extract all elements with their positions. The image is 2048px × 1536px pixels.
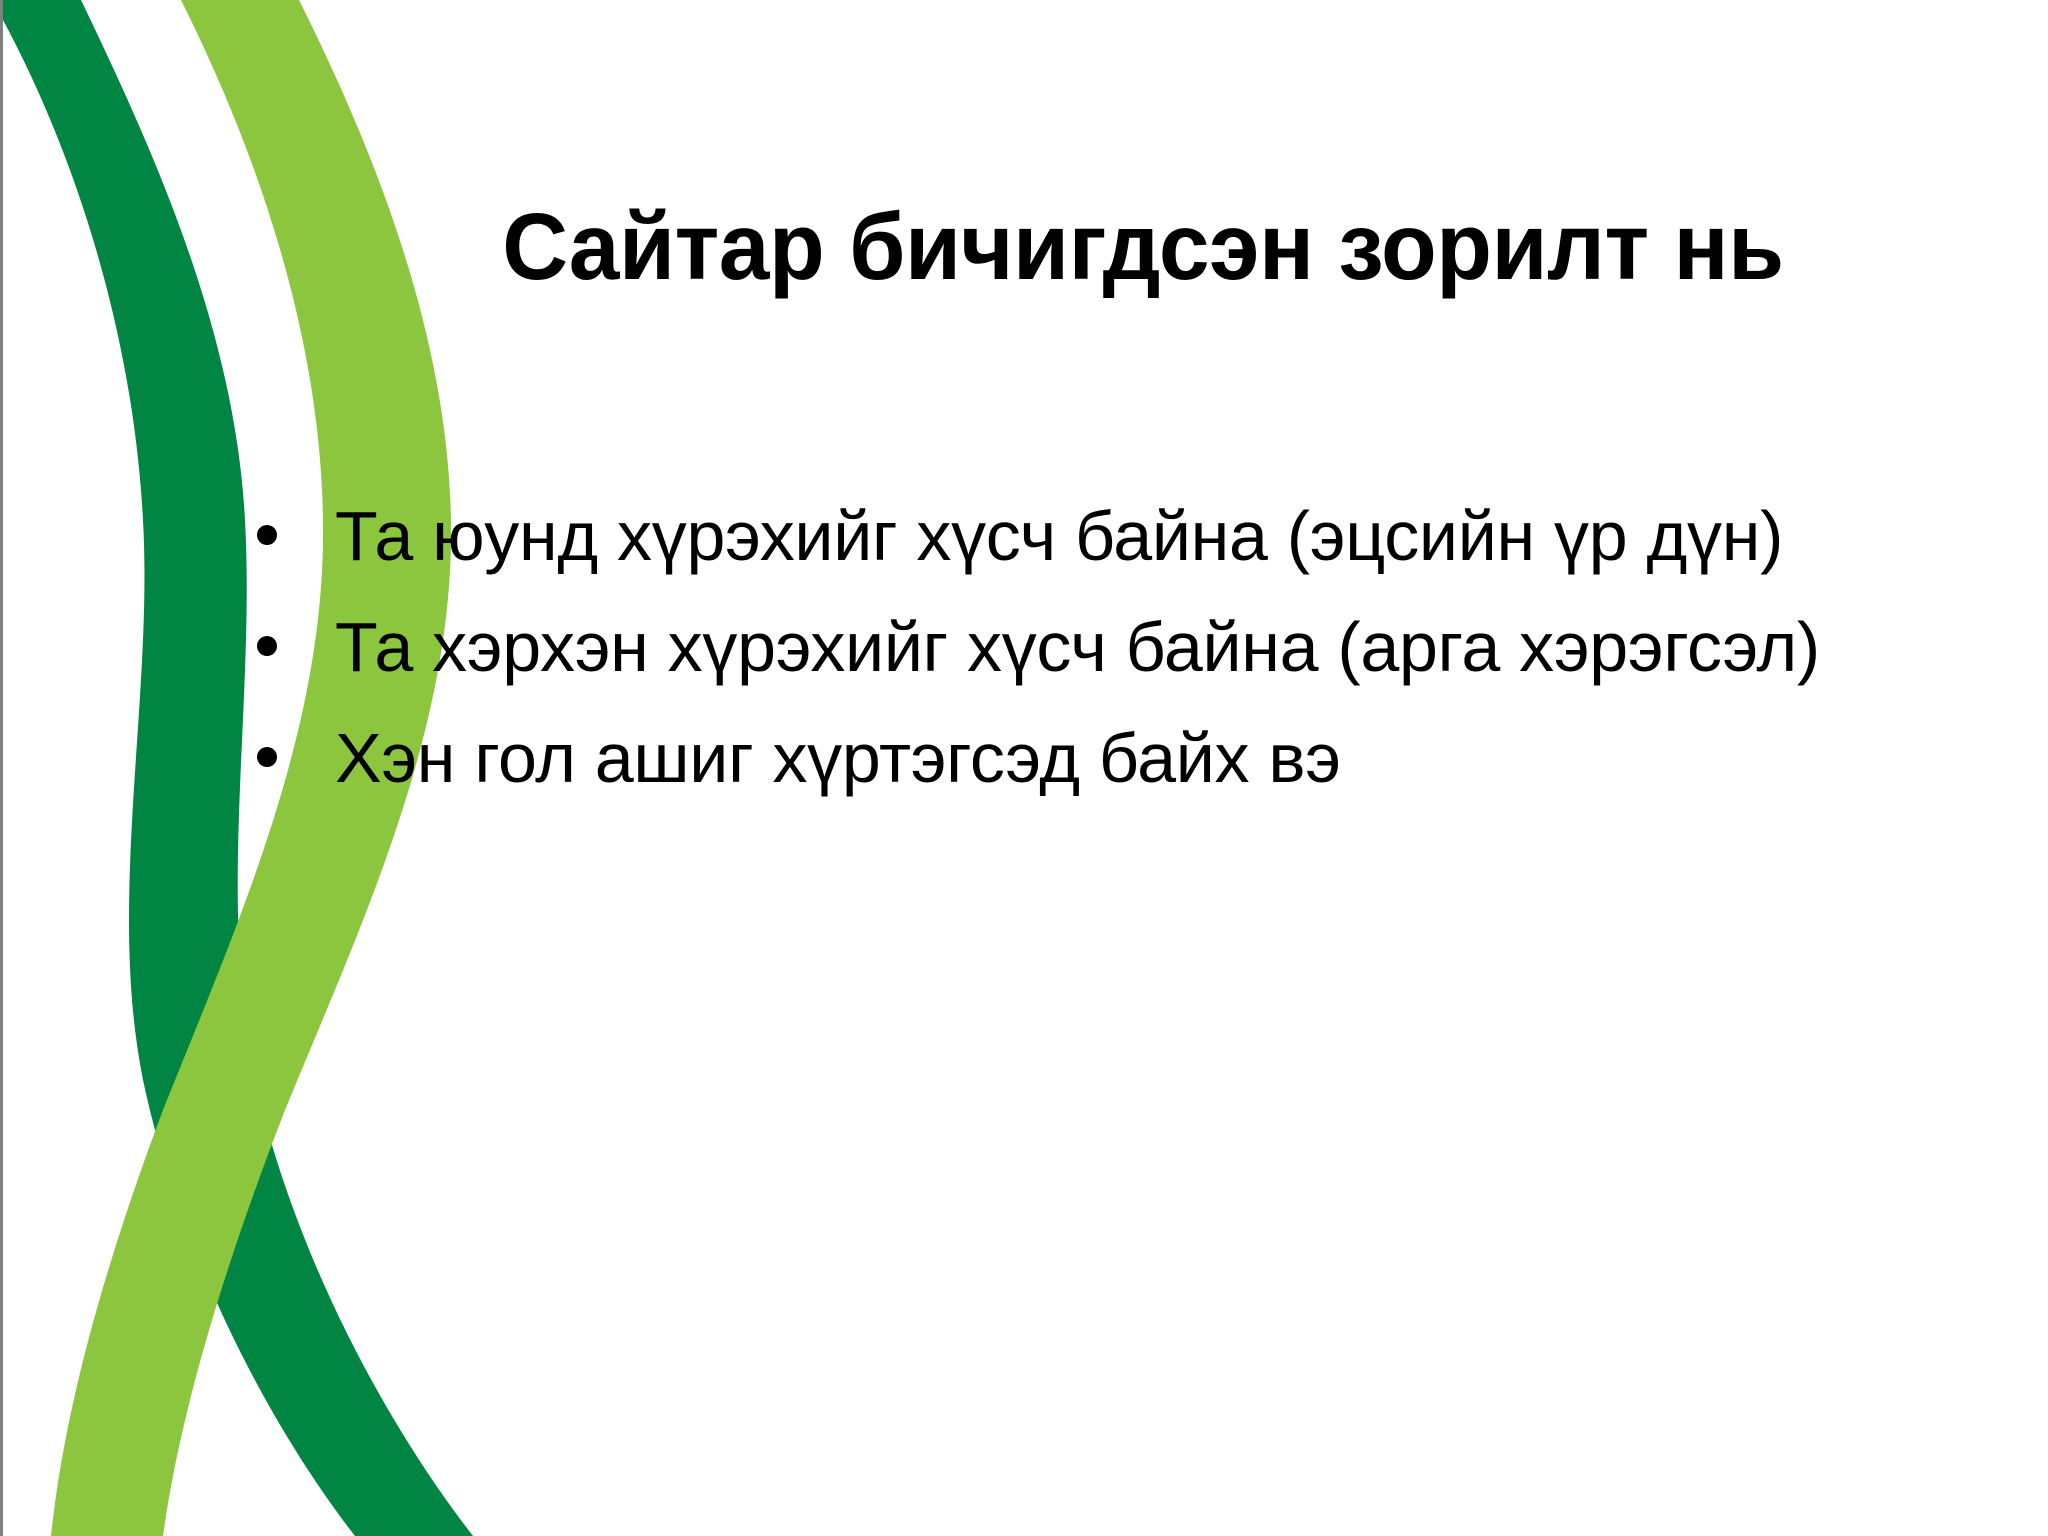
- bullet-dot-icon: [255, 601, 281, 694]
- page-title: Сайтар бичигдсэн зорилт нь: [365, 196, 1920, 299]
- bullet-dot-icon: [255, 712, 281, 805]
- bullet-list: Та юунд хүрэхийг хүсч байна (эцсийн үр д…: [239, 490, 1939, 823]
- list-item-label: Хэн гол ашиг хүртэгсэд байх вэ: [335, 712, 1915, 805]
- list-item: Та юунд хүрэхийг хүсч байна (эцсийн үр д…: [239, 490, 1939, 583]
- bullet-dot-icon: [255, 490, 281, 583]
- list-item: Хэн гол ашиг хүртэгсэд байх вэ: [239, 712, 1939, 805]
- title-block: Сайтар бичигдсэн зорилт нь: [333, 196, 1953, 299]
- list-item: Та хэрхэн хүрэхийг хүсч байна (арга хэрэ…: [239, 601, 1939, 694]
- list-item-label: Та юунд хүрэхийг хүсч байна (эцсийн үр д…: [335, 490, 1915, 583]
- list-item-label: Та хэрхэн хүрэхийг хүсч байна (арга хэрэ…: [335, 601, 1915, 694]
- presentation-slide: Сайтар бичигдсэн зорилт нь Та юунд хүрэх…: [0, 0, 2048, 1536]
